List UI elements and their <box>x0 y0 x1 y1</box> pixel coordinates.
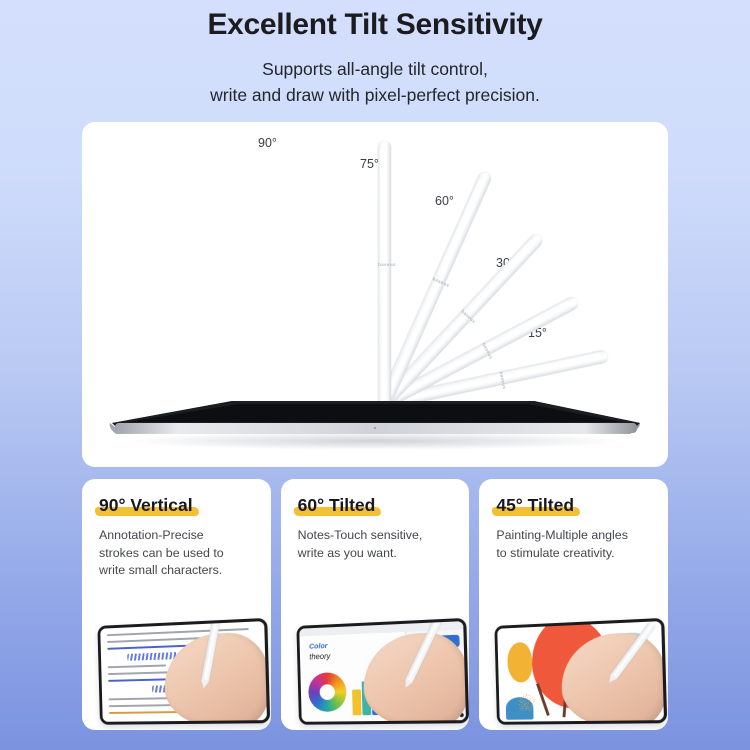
card-desc-line-2: strokes can be used to <box>99 545 254 563</box>
thumbnail-screen <box>100 621 266 722</box>
card-desc-line-2: write as you want. <box>298 545 453 563</box>
stylus-brand-label: baseus <box>378 262 391 267</box>
thumbnail-screen: Color theory <box>299 621 465 722</box>
feature-card-45-tilted[interactable]: 45° Tilted Painting-Multiple angles to s… <box>479 479 668 730</box>
card-desc-line-2: to stimulate creativity. <box>496 545 651 563</box>
card-thumbnail-color-board: Color theory <box>281 612 470 730</box>
board-label-color: Color <box>309 641 328 651</box>
board-label-theory: theory <box>309 652 330 662</box>
tablet-illustration <box>82 383 668 453</box>
card-thumbnail-illustration <box>479 612 668 730</box>
tilt-demo-panel: 90° 75° 60° 30° 15° baseus baseus baseus… <box>82 122 668 467</box>
header: Excellent Tilt Sensitivity Supports all-… <box>0 0 750 108</box>
card-title: 90° Vertical <box>99 495 193 515</box>
card-title: 45° Tilted <box>496 495 574 515</box>
tablet-device <box>82 383 668 453</box>
text-line <box>108 664 166 668</box>
card-description: Annotation-Precise strokes can be used t… <box>99 527 254 580</box>
thumbnail-tablet: Color theory <box>296 618 468 725</box>
shape-gold <box>507 642 533 682</box>
angle-label-90: 90° <box>258 136 277 150</box>
page-subtitle: Supports all-angle tilt control, write a… <box>0 56 750 109</box>
card-desc-line-1: Notes-Touch sensitive, <box>298 527 453 545</box>
card-desc-line-1: Annotation-Precise <box>99 527 254 545</box>
angle-label-60: 60° <box>435 194 454 208</box>
card-title-group: 90° Vertical <box>99 495 193 516</box>
stylus-brand-label: baseus <box>460 309 473 322</box>
card-thumbnail-annotated-document <box>82 612 271 730</box>
subtitle-line-2: write and draw with pixel-perfect precis… <box>0 82 750 108</box>
card-desc-line-1: Painting-Multiple angles <box>496 527 651 545</box>
stylus-90-degree: baseus <box>378 141 391 403</box>
card-title-group: 45° Tilted <box>496 495 574 516</box>
card-title: 60° Tilted <box>298 495 376 515</box>
stylus-highlight <box>380 149 382 363</box>
card-desc-line-3: write small characters. <box>99 562 254 580</box>
thumbnail-tablet <box>495 618 667 725</box>
pen-fan-stage: 90° 75° 60° 30° 15° baseus baseus baseus… <box>82 122 668 467</box>
color-wheel <box>308 672 347 712</box>
handwritten-annotation <box>127 652 177 661</box>
subtitle-line-1: Supports all-angle tilt control, <box>0 56 750 82</box>
color-swatch <box>352 689 361 715</box>
feature-card-60-tilted[interactable]: 60° Tilted Notes-Touch sensitive, write … <box>281 479 470 730</box>
thumbnail-tablet <box>97 618 269 725</box>
feature-card-list: 90° Vertical Annotation-Precise strokes … <box>82 479 668 730</box>
card-description: Painting-Multiple angles to stimulate cr… <box>496 527 651 562</box>
card-description: Notes-Touch sensitive, write as you want… <box>298 527 453 562</box>
card-title-group: 60° Tilted <box>298 495 376 516</box>
stylus-brand-label: baseus <box>481 342 492 356</box>
feature-card-90-vertical[interactable]: 90° Vertical Annotation-Precise strokes … <box>82 479 271 730</box>
thumbnail-screen <box>498 621 664 722</box>
page-title: Excellent Tilt Sensitivity <box>0 6 750 44</box>
angle-label-75: 75° <box>360 157 379 171</box>
